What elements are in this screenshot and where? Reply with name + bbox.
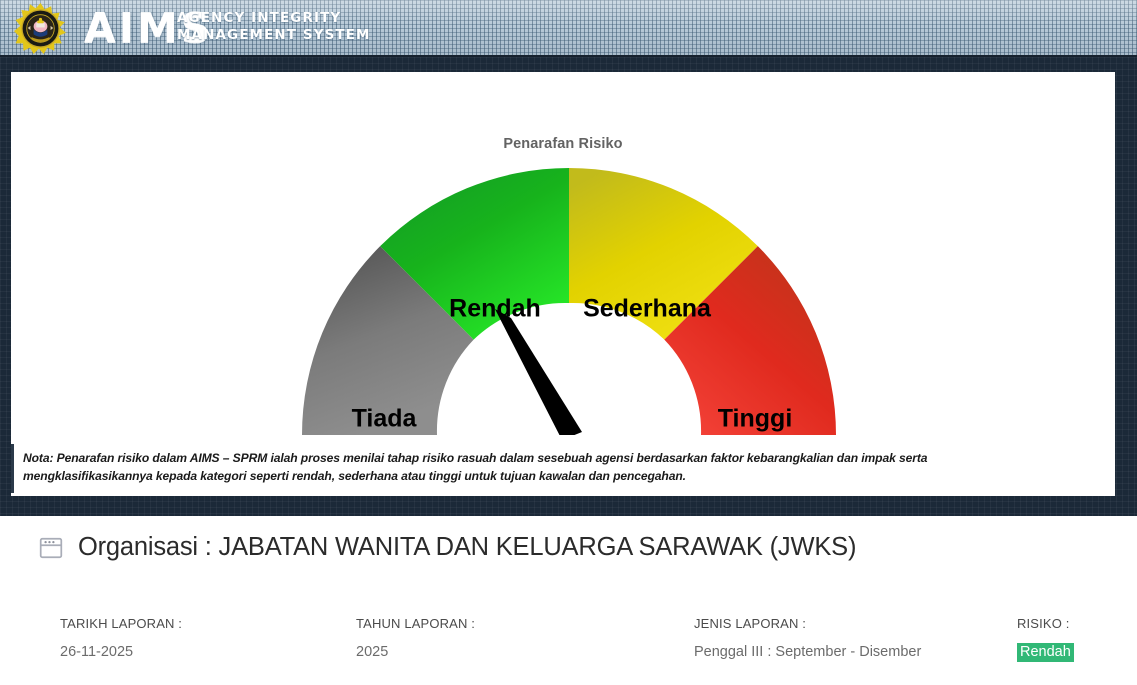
gauge-label-tiada: Tiada xyxy=(352,405,418,433)
jenis-laporan-value: Penggal III : September - Disember xyxy=(694,644,921,660)
brand-subtitle-line2: MANAGEMENT SYSTEM xyxy=(177,27,371,44)
info-cell-risiko: RISIKO : Rendah xyxy=(1017,616,1074,660)
gauge-label-sederhana: Sederhana xyxy=(583,295,712,323)
page-root: AIMS AGENCY INTEGRITY MANAGEMENT SYSTEM … xyxy=(0,0,1137,685)
jenis-laporan-label: JENIS LAPORAN : xyxy=(694,616,921,631)
brand-subtitle: AGENCY INTEGRITY MANAGEMENT SYSTEM xyxy=(177,10,371,44)
info-cell-jenis-laporan: JENIS LAPORAN : Penggal III : September … xyxy=(694,616,921,660)
status-badge: Rendah xyxy=(1017,643,1074,662)
tahun-laporan-value: 2025 xyxy=(356,644,475,660)
gauge-svg: Tiada Rendah Sederhana Tinggi xyxy=(11,72,1115,496)
gauge-label-tinggi: Tinggi xyxy=(718,405,793,433)
tarikh-laporan-label: TARIKH LAPORAN : xyxy=(60,616,182,631)
tarikh-laporan-value: 26-11-2025 xyxy=(60,644,182,660)
note-text: Nota: Penarafan risiko dalam AIMS – SPRM… xyxy=(23,449,935,485)
info-cell-tarikh-laporan: TARIKH LAPORAN : 26-11-2025 xyxy=(60,616,182,660)
gauge-chart: Tiada Rendah Sederhana Tinggi xyxy=(11,72,1115,496)
macc-emblem-icon xyxy=(14,2,67,55)
note-box: Nota: Penarafan risiko dalam AIMS – SPRM… xyxy=(11,444,945,493)
report-info-strip: TARIKH LAPORAN : 26-11-2025 TAHUN LAPORA… xyxy=(0,600,1137,685)
organisation-title: Organisasi : JABATAN WANITA DAN KELUARGA… xyxy=(78,533,856,562)
risiko-label: RISIKO : xyxy=(1017,616,1074,631)
info-cell-tahun-laporan: TAHUN LAPORAN : 2025 xyxy=(356,616,475,660)
risiko-value-wrap: Rendah xyxy=(1017,644,1074,660)
brand-subtitle-line1: AGENCY INTEGRITY xyxy=(177,10,371,27)
tahun-laporan-label: TAHUN LAPORAN : xyxy=(356,616,475,631)
gauge-needle xyxy=(495,309,582,440)
window-icon xyxy=(38,535,64,561)
organisation-row: Organisasi : JABATAN WANITA DAN KELUARGA… xyxy=(0,516,1137,578)
gauge-label-rendah: Rendah xyxy=(449,295,541,323)
risk-gauge-card: Penarafan Risiko xyxy=(11,72,1115,496)
app-header: AIMS AGENCY INTEGRITY MANAGEMENT SYSTEM xyxy=(0,0,1137,57)
